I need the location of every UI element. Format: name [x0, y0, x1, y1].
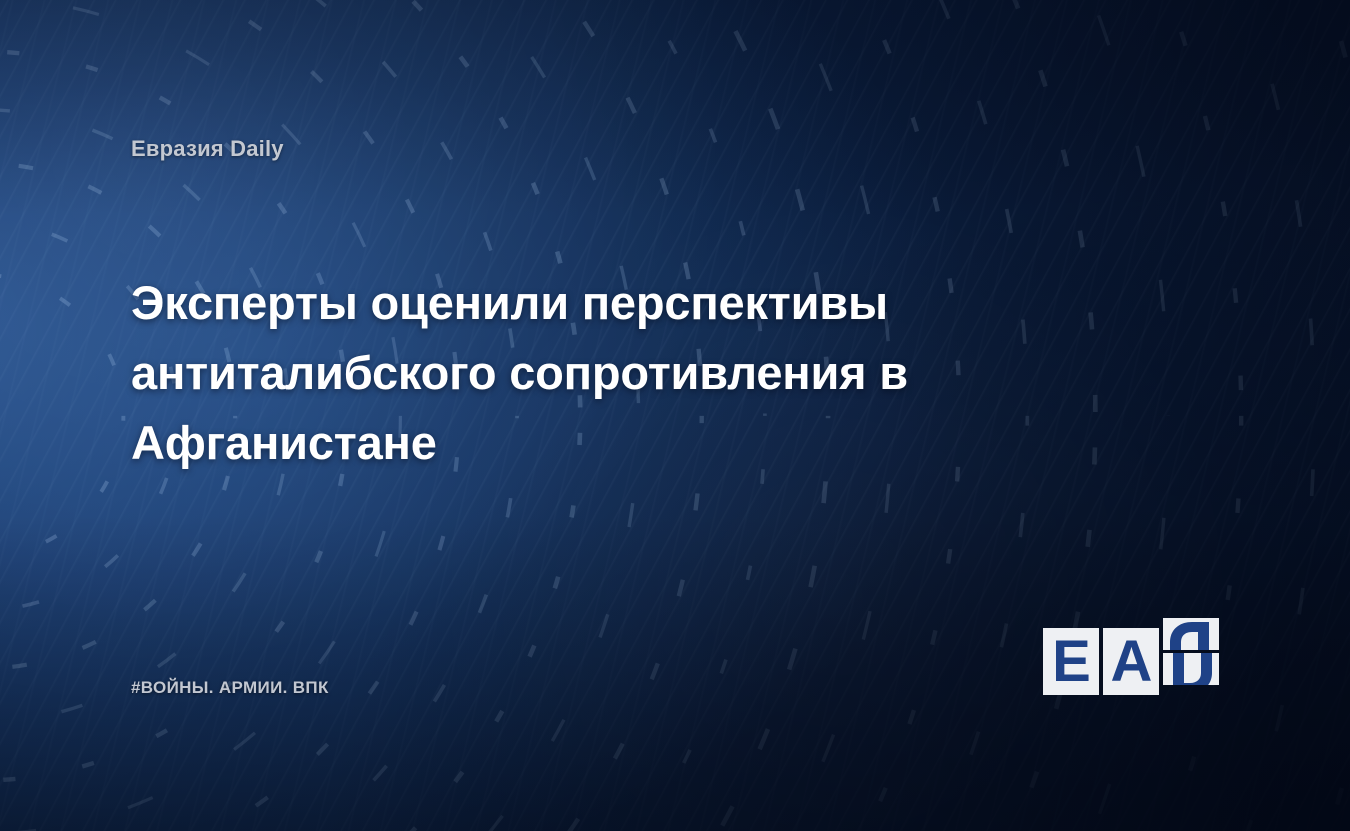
eadaily-logo[interactable]: E A: [1043, 628, 1219, 695]
card-content: Евразия Daily Эксперты оценили перспекти…: [0, 0, 1350, 831]
logo-letter-a: A: [1111, 633, 1152, 691]
logo-letter-e: E: [1052, 633, 1090, 691]
hashtag-label: #ВОЙНЫ. АРМИИ. ВПК: [131, 678, 329, 698]
page-title: Эксперты оценили перспективы антиталибск…: [131, 268, 1061, 478]
logo-tile-e: E: [1043, 628, 1099, 695]
logo-tile-d: [1163, 618, 1219, 685]
logo-letter-d-top-half: [1163, 618, 1219, 650]
brand-label: Евразия Daily: [131, 136, 284, 162]
logo-tile-a: A: [1103, 628, 1159, 695]
news-share-card: Евразия Daily Эксперты оценили перспекти…: [0, 0, 1350, 831]
logo-letter-d-bottom-half: [1163, 653, 1219, 685]
